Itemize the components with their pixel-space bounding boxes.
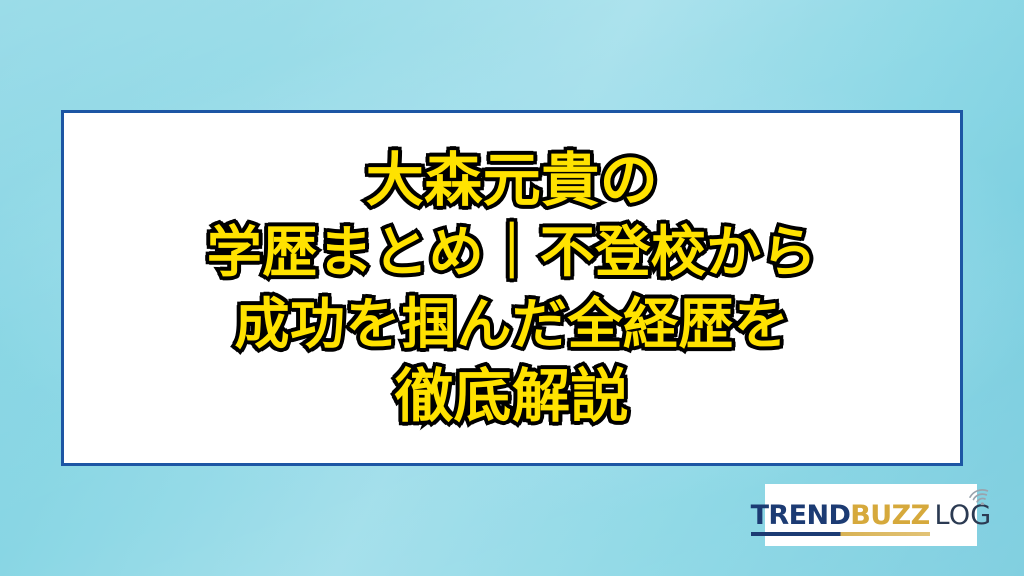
title-line-1: 大森元貴の [74,144,950,216]
title-text-block: 大森元貴の 学歴まとめ｜不登校から 成功を掴んだ全経歴を 徹底解説 [64,144,960,432]
logo-underline-bar [751,532,930,536]
brand-logo-badge[interactable]: TRENDBUZZ LOG [765,484,977,546]
title-line-3: 成功を掴んだ全経歴を [74,288,950,360]
logo-text-trend: TREND [751,500,851,531]
logo-text-log-wrapper: LOG [935,502,992,529]
logo-wordmark: TRENDBUZZ [751,502,930,529]
wifi-signal-icon [969,485,995,505]
title-line-2: 学歴まとめ｜不登校から [74,216,950,288]
brand-logo: TRENDBUZZ LOG [751,502,992,529]
title-line-4: 徹底解説 [74,360,950,432]
title-card: 大森元貴の 学歴まとめ｜不登校から 成功を掴んだ全経歴を 徹底解説 [61,110,963,466]
logo-text-buzz: BUZZ [850,500,929,531]
thumbnail-canvas: 大森元貴の 学歴まとめ｜不登校から 成功を掴んだ全経歴を 徹底解説 TRENDB… [0,0,1024,576]
